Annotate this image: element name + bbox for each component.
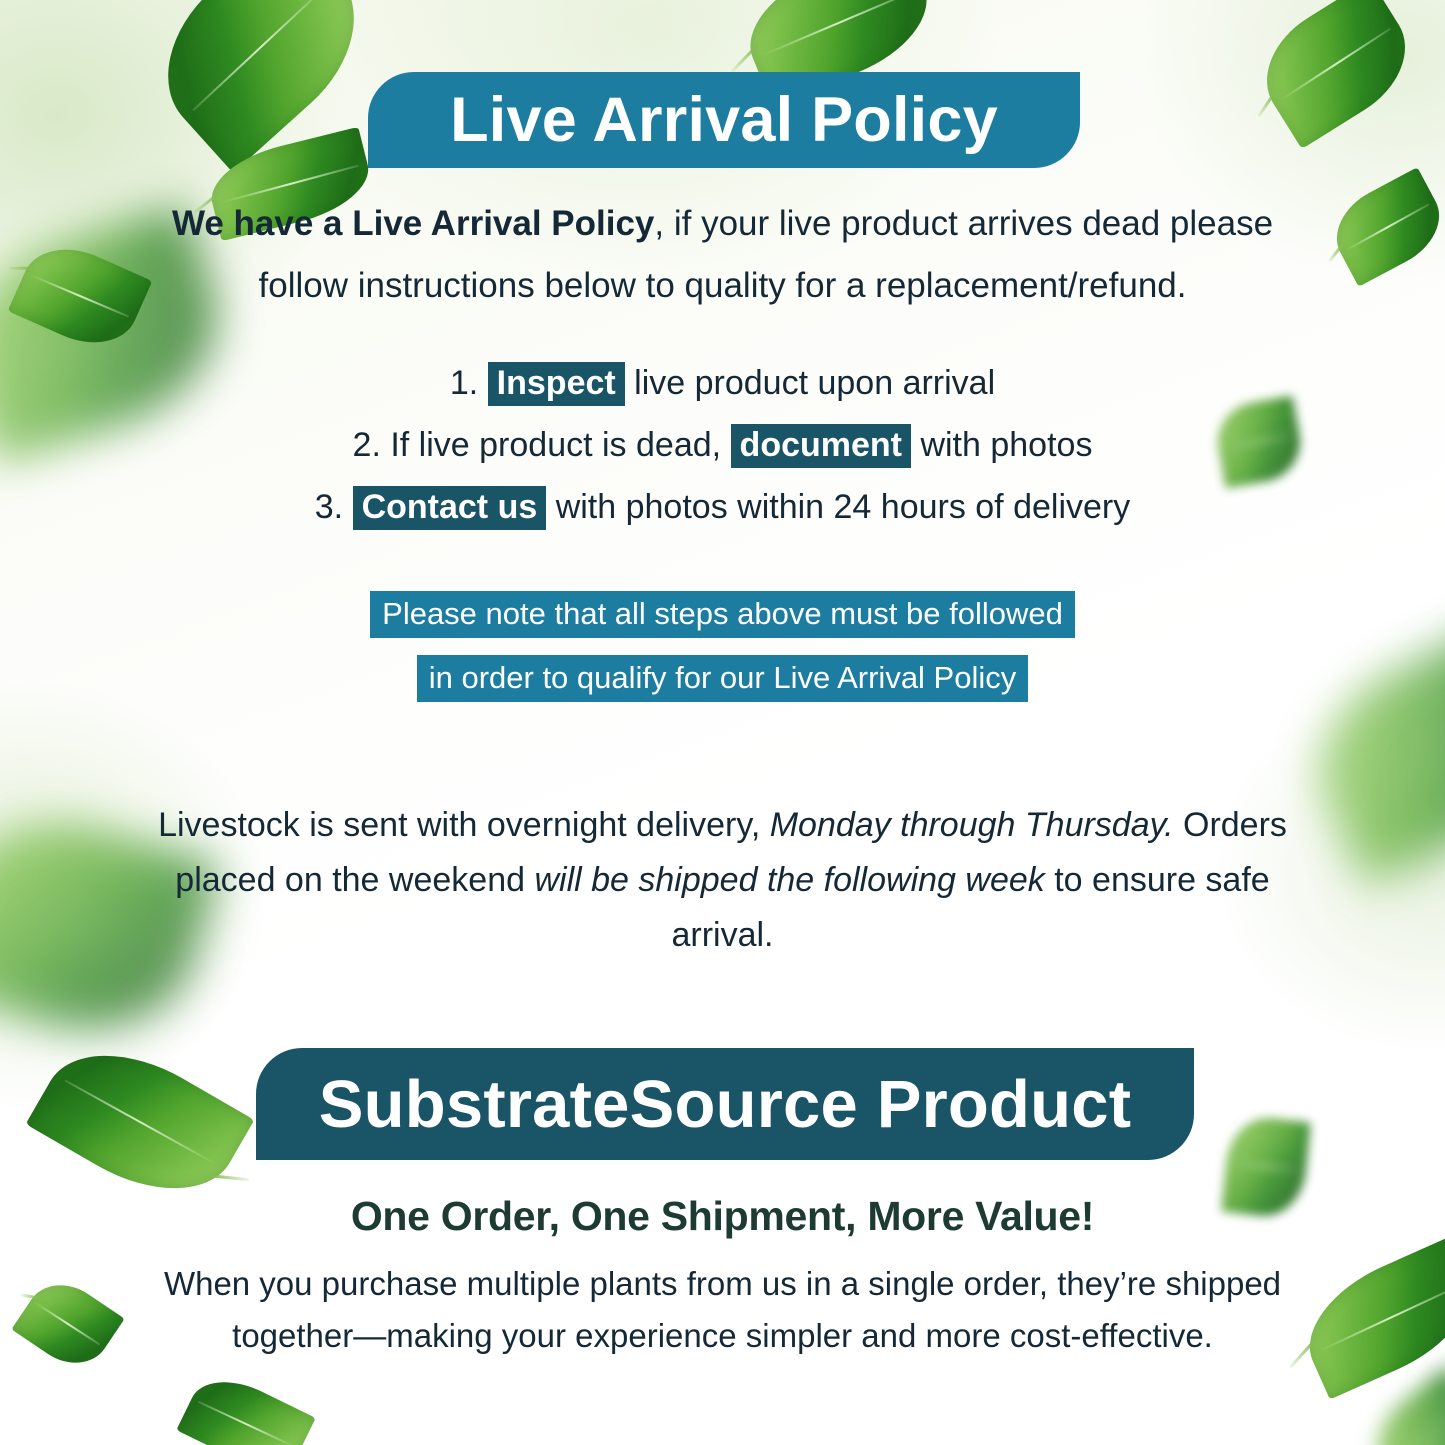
note-line-1-wrap: Please note that all steps above must be… (150, 582, 1295, 646)
step-highlight-contact-us[interactable]: Contact us (353, 486, 547, 530)
leaf-icon (1356, 1364, 1445, 1445)
step-number: 3. (315, 488, 343, 526)
intro-lead: We have a Live Arrival Policy (172, 204, 654, 243)
step-text-before: If live product is dead, (390, 426, 721, 464)
shipping-italic-1: Monday through Thursday. (770, 806, 1174, 844)
policy-note: Please note that all steps above must be… (150, 582, 1295, 710)
shipping-italic-2: will be shipped the following week (534, 861, 1044, 899)
live-arrival-policy-title: Live Arrival Policy (450, 84, 998, 156)
step-number: 1. (450, 364, 478, 402)
step-highlight-inspect: Inspect (488, 362, 625, 406)
steps-list: 1. Inspect live product upon arrival 2. … (150, 352, 1295, 538)
leaf-icon (133, 0, 389, 173)
leaf-icon (1245, 0, 1428, 149)
note-line-1: Please note that all steps above must be… (370, 591, 1075, 638)
list-item: 1. Inspect live product upon arrival (150, 352, 1295, 414)
live-arrival-policy-page: Live Arrival Policy We have a Live Arriv… (0, 0, 1445, 1445)
value-paragraph: When you purchase multiple plants from u… (150, 1258, 1295, 1362)
intro-paragraph: We have a Live Arrival Policy, if your l… (150, 193, 1295, 317)
leaf-icon (1288, 622, 1445, 885)
list-item: 2. If live product is dead, document wit… (150, 414, 1295, 476)
step-text: with photos within 24 hours of delivery (556, 488, 1131, 526)
note-line-2: in order to qualify for our Live Arrival… (417, 655, 1029, 702)
leaf-icon (1322, 167, 1445, 287)
substratesource-product-banner: SubstrateSource Product (256, 1048, 1194, 1160)
step-text: with photos (920, 426, 1092, 464)
step-highlight-document: document (731, 424, 911, 468)
leaf-icon (176, 1365, 315, 1445)
shipping-part-1: Livestock is sent with overnight deliver… (158, 806, 770, 844)
leaf-icon (1289, 1237, 1445, 1400)
shipping-paragraph: Livestock is sent with overnight deliver… (150, 798, 1295, 963)
step-text: live product upon arrival (634, 364, 995, 402)
note-line-2-wrap: in order to qualify for our Live Arrival… (150, 646, 1295, 710)
live-arrival-policy-banner: Live Arrival Policy (368, 72, 1080, 168)
value-subheading: One Order, One Shipment, More Value! (150, 1193, 1295, 1240)
list-item: 3. Contact us with photos within 24 hour… (150, 476, 1295, 538)
leaf-icon (11, 1270, 124, 1379)
step-number: 2. (353, 426, 381, 464)
substratesource-product-title: SubstrateSource Product (319, 1066, 1132, 1143)
leaf-icon (8, 232, 153, 359)
